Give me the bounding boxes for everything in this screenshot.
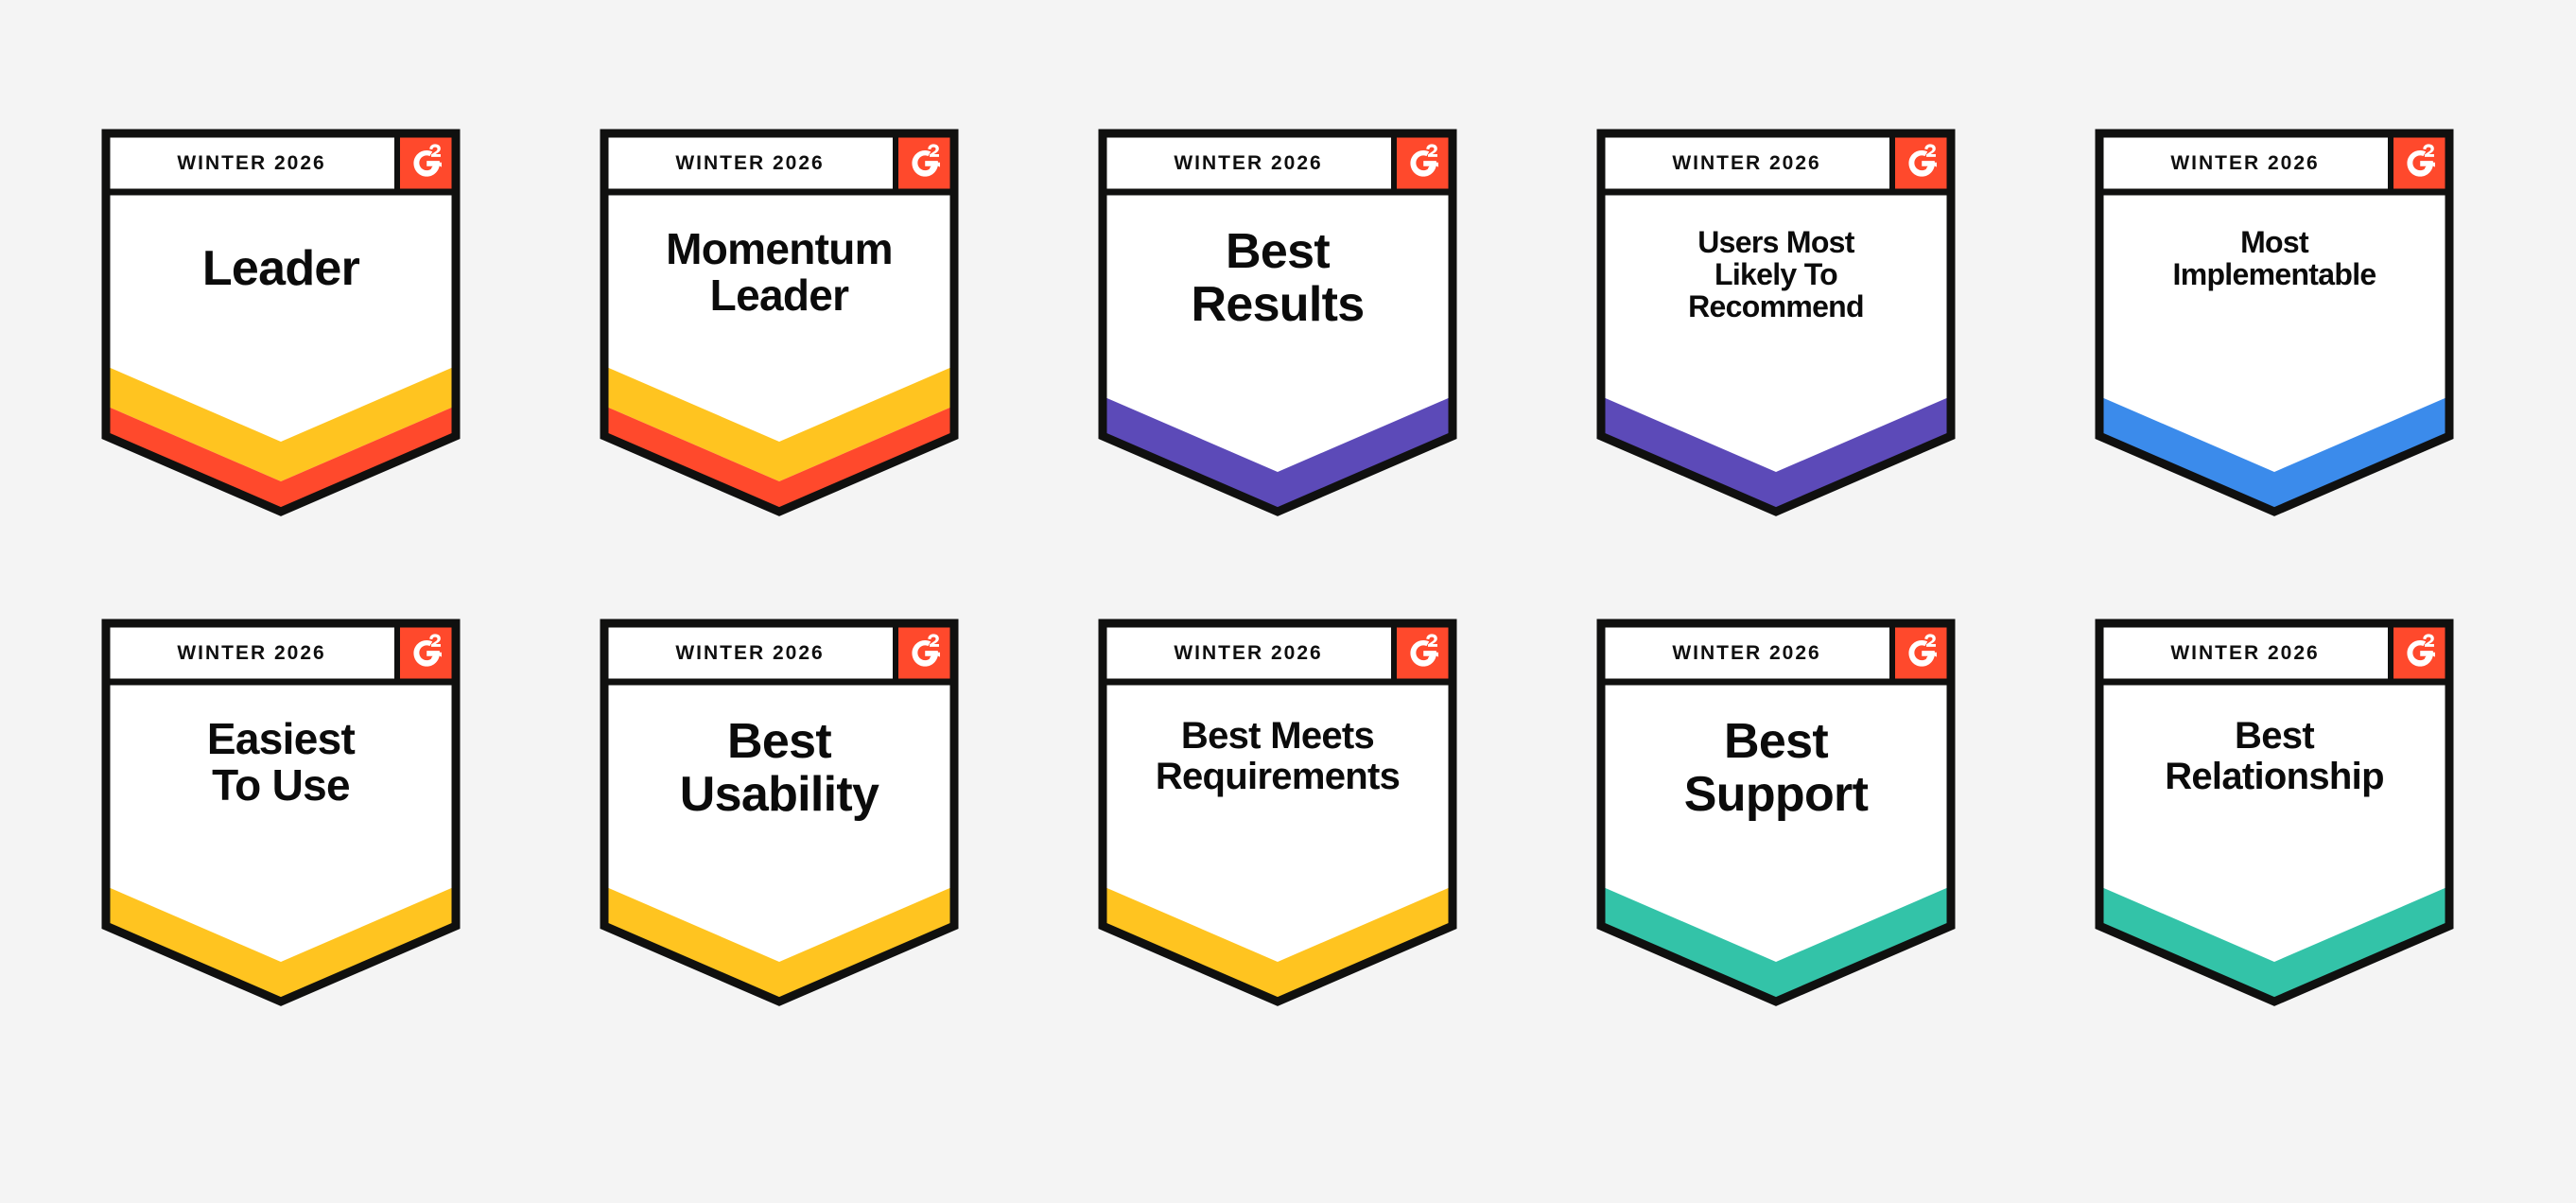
badge-shape: [1601, 623, 1951, 1020]
g2-logo-background: [397, 133, 456, 192]
g2-logo-background: [1892, 133, 1951, 192]
badge-leader[interactable]: WINTER 2026 Leader: [106, 133, 456, 531]
badge-shape: [1601, 133, 1951, 531]
g2-logo-background: [2391, 133, 2449, 192]
badge-best-relationship[interactable]: WINTER 2026 Best Relationship: [2099, 623, 2449, 1020]
badge-shape: [1103, 133, 1453, 531]
badge-shape: [106, 133, 456, 531]
badge-easiest-to-use[interactable]: WINTER 2026 Easiest To Use: [106, 623, 456, 1020]
g2-logo-background: [896, 133, 954, 192]
g2-logo-background: [1394, 133, 1453, 192]
badge-most-implementable[interactable]: WINTER 2026 Most Implementable: [2099, 133, 2449, 531]
badge-best-usability[interactable]: WINTER 2026 Best Usability: [604, 623, 954, 1020]
badge-momentum-leader[interactable]: WINTER 2026 Momentum Leader: [604, 133, 954, 531]
g2-logo-background: [1892, 623, 1951, 682]
badge-best-results[interactable]: WINTER 2026 Best Results: [1103, 133, 1453, 531]
badge-shape: [604, 133, 954, 531]
g2-logo-background: [1394, 623, 1453, 682]
g2-logo-background: [2391, 623, 2449, 682]
badge-shape: [106, 623, 456, 1020]
g2-logo-background: [397, 623, 456, 682]
badge-shape: [2099, 623, 2449, 1020]
g2-logo-background: [896, 623, 954, 682]
badge-shape: [604, 623, 954, 1020]
badge-shape: [1103, 623, 1453, 1020]
badge-shape: [2099, 133, 2449, 531]
g2-badge-grid: WINTER 2026 Leader: [0, 0, 2576, 1203]
badge-best-meets-requirements[interactable]: WINTER 2026 Best Meets Requirements: [1103, 623, 1453, 1020]
badge-best-support[interactable]: WINTER 2026 Best Support: [1601, 623, 1951, 1020]
badge-users-most-likely-to-recommend[interactable]: WINTER 2026 Users Most Likely To Recomme…: [1601, 133, 1951, 531]
